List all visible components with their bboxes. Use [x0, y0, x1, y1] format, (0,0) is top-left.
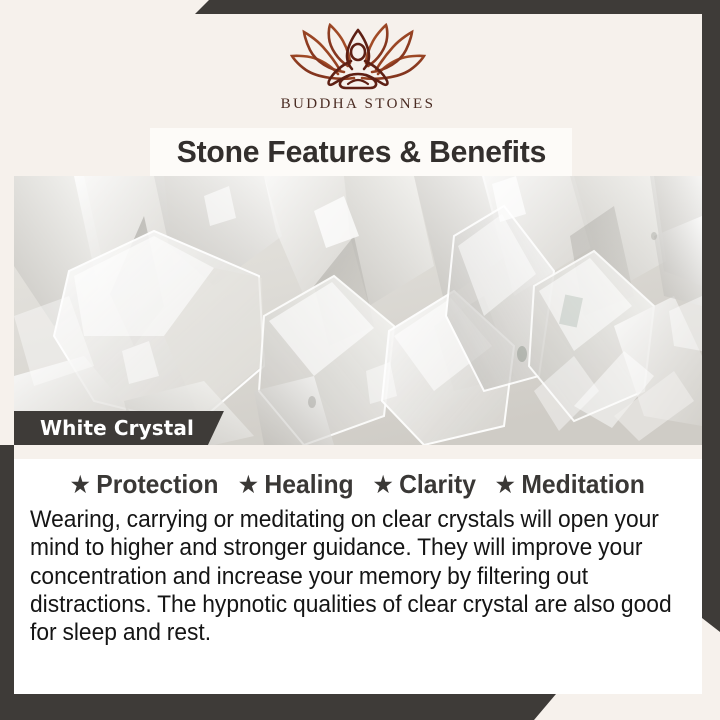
card-header: BUDDHA STONES: [14, 0, 702, 128]
crystal-photo: White Crystal: [14, 176, 702, 445]
page-title: Stone Features & Benefits: [176, 134, 545, 170]
crystal-photo-graphic: [14, 176, 702, 445]
benefit-label: Protection: [96, 469, 218, 500]
star-icon: ★: [496, 474, 515, 496]
frame-top-bar: [195, 0, 720, 14]
body-panel: ★ Protection ★ Healing ★ Clarity ★ Medit…: [14, 459, 702, 694]
benefit-label: Meditation: [522, 469, 646, 500]
description-text: Wearing, carrying or meditating on clear…: [30, 506, 684, 648]
benefits-row: ★ Protection ★ Healing ★ Clarity ★ Medit…: [30, 469, 686, 500]
benefit-protection: ★ Protection: [71, 469, 219, 500]
frame-right-bar: [702, 0, 720, 632]
frame-left-bar: [0, 445, 14, 720]
frame-bottom-bar: [0, 694, 556, 720]
brand-wordmark: BUDDHA STONES: [281, 96, 436, 113]
frame-top-left-notch: [0, 0, 200, 14]
benefit-label: Clarity: [399, 469, 476, 500]
stone-feature-card: BUDDHA STONES Stone Features & Benefits: [0, 0, 720, 720]
star-icon: ★: [71, 474, 90, 496]
star-icon: ★: [239, 474, 258, 496]
cream-divider-strip: [14, 445, 702, 459]
benefit-label: Healing: [265, 469, 354, 500]
photo-label-badge: White Crystal: [14, 411, 224, 445]
title-plate: Stone Features & Benefits: [150, 128, 572, 176]
benefit-healing: ★ Healing: [239, 469, 354, 500]
benefit-meditation: ★ Meditation: [496, 469, 645, 500]
benefit-clarity: ★ Clarity: [373, 469, 475, 500]
photo-label-text: White Crystal: [40, 416, 194, 440]
star-icon: ★: [373, 474, 392, 496]
lotus-meditation-icon: [282, 22, 434, 92]
